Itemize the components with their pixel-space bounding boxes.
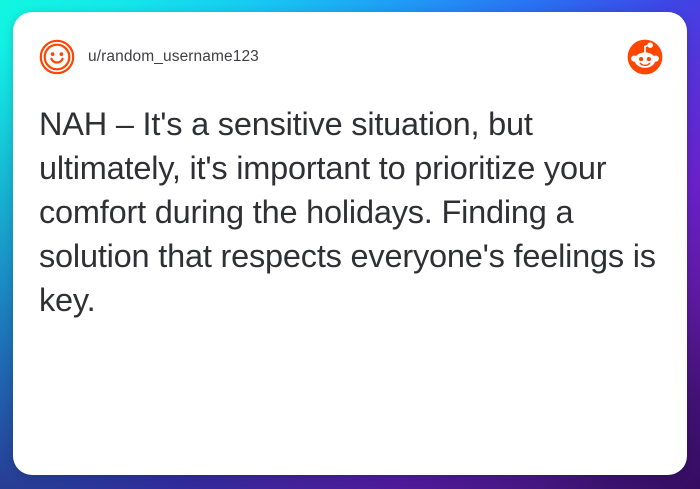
post-body: NAH – It's a sensitive situation, but ul… bbox=[13, 102, 687, 322]
username-label: u/random_username123 bbox=[88, 48, 259, 66]
smiley-face-icon bbox=[39, 39, 75, 75]
reddit-snoo-icon bbox=[627, 39, 663, 75]
screenshot-root: u/random_username123 bbox=[0, 0, 700, 489]
avatar[interactable] bbox=[39, 39, 75, 75]
card-header: u/random_username123 bbox=[13, 12, 687, 102]
reddit-logo[interactable] bbox=[627, 39, 663, 75]
post-text: NAH – It's a sensitive situation, but ul… bbox=[39, 102, 657, 322]
reddit-comment-card: u/random_username123 bbox=[13, 12, 687, 475]
